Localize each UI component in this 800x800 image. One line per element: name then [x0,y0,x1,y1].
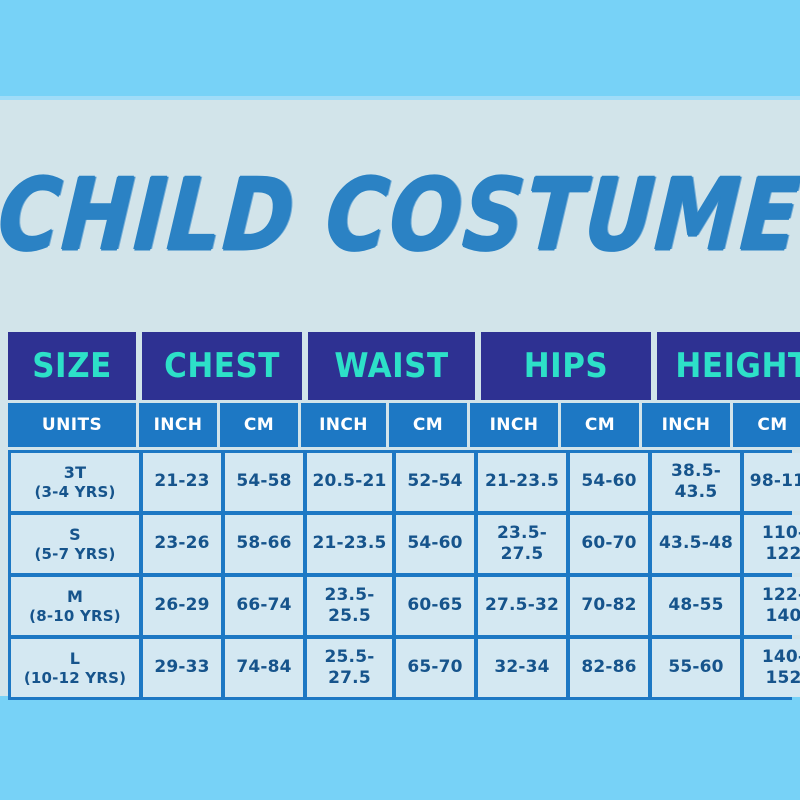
cell-hips-cm: 54-60 [570,453,648,511]
cell-hips-inch: 32-34 [478,639,566,697]
cell-hips-cm: 82-86 [570,639,648,697]
cell-waist-inch: 23.5-25.5 [307,577,392,635]
cell-hips-cm: 60-70 [570,515,648,573]
cell-height-cm: 140-152 [744,639,800,697]
table-row: 3T (3-4 YRS) 21-23 54-58 20.5-21 52-54 2… [11,453,789,511]
cell-hips-inch: 27.5-32 [478,577,566,635]
cell-chest-inch: 29-33 [143,639,221,697]
cell-height-inch: 38.5-43.5 [652,453,740,511]
top-band-accent-line [0,96,800,100]
size-age: (5-7 YRS) [34,545,115,564]
table-row: S (5-7 YRS) 23-26 58-66 21-23.5 54-60 23… [11,515,789,573]
header-label-height: HEIGHT [675,347,800,386]
units-cell-hips-cm: CM [561,403,639,447]
cell-size: M (8-10 YRS) [11,577,139,635]
size-chart-page: CHILD COSTUME SIZE CHEST WAIST HIPS HEIG… [0,0,800,800]
units-cell-chest-cm: CM [220,403,298,447]
units-cell-chest-inch: INCH [139,403,217,447]
cell-size: L (10-12 YRS) [11,639,139,697]
table-row: L (10-12 YRS) 29-33 74-84 25.5-27.5 65-7… [11,639,789,697]
units-group-waist: INCH CM [301,403,467,447]
cell-waist-cm: 60-65 [396,577,474,635]
cell-chest-cm: 74-84 [225,639,303,697]
cell-height-inch: 48-55 [652,577,740,635]
size-chart-table: SIZE CHEST WAIST HIPS HEIGHT UNITS INCH … [8,332,792,700]
header-label-chest: CHEST [164,347,280,386]
cell-size: S (5-7 YRS) [11,515,139,573]
size-name: M [67,587,83,607]
header-group-hips: HIPS [481,332,651,400]
cell-chest-inch: 26-29 [143,577,221,635]
cell-height-cm: 122-140 [744,577,800,635]
units-group-size: UNITS [8,403,136,447]
header-group-chest: CHEST [142,332,302,400]
header-group-height: HEIGHT [657,332,800,400]
cell-height-cm: 98-110 [744,453,800,511]
units-cell-height-cm: CM [733,403,800,447]
units-cell-units: UNITS [8,403,136,447]
units-group-hips: INCH CM [470,403,639,447]
header-label-waist: WAIST [334,347,448,386]
cell-waist-cm: 52-54 [396,453,474,511]
cell-waist-inch: 20.5-21 [307,453,392,511]
table-header-row: SIZE CHEST WAIST HIPS HEIGHT [8,332,792,400]
bottom-color-band [0,696,800,800]
size-name: 3T [64,463,86,483]
cell-hips-inch: 21-23.5 [478,453,566,511]
cell-chest-cm: 54-58 [225,453,303,511]
table-row: M (8-10 YRS) 26-29 66-74 23.5-25.5 60-65… [11,577,789,635]
size-name: S [69,525,81,545]
cell-height-inch: 55-60 [652,639,740,697]
top-color-band [0,0,800,96]
cell-hips-cm: 70-82 [570,577,648,635]
cell-waist-cm: 54-60 [396,515,474,573]
page-title: CHILD COSTUME [0,165,800,264]
size-age: (3-4 YRS) [34,483,115,502]
units-group-height: INCH CM [642,403,800,447]
cell-height-inch: 43.5-48 [652,515,740,573]
cell-chest-inch: 21-23 [143,453,221,511]
units-cell-hips-inch: INCH [470,403,558,447]
size-age: (8-10 YRS) [29,607,121,626]
cell-chest-cm: 66-74 [225,577,303,635]
header-label-size: SIZE [32,347,112,386]
cell-size: 3T (3-4 YRS) [11,453,139,511]
units-cell-waist-inch: INCH [301,403,386,447]
header-group-size: SIZE [8,332,136,400]
title-container: CHILD COSTUME [0,140,800,290]
header-group-waist: WAIST [308,332,475,400]
table-body: 3T (3-4 YRS) 21-23 54-58 20.5-21 52-54 2… [8,450,792,700]
size-age: (10-12 YRS) [24,669,126,688]
cell-height-cm: 110-122 [744,515,800,573]
header-label-hips: HIPS [524,347,609,386]
units-group-chest: INCH CM [139,403,298,447]
table-units-row: UNITS INCH CM INCH CM INCH CM INCH CM [8,403,792,447]
units-cell-height-inch: INCH [642,403,730,447]
size-name: L [70,649,80,669]
cell-chest-cm: 58-66 [225,515,303,573]
cell-hips-inch: 23.5-27.5 [478,515,566,573]
cell-waist-cm: 65-70 [396,639,474,697]
units-cell-waist-cm: CM [389,403,467,447]
cell-chest-inch: 23-26 [143,515,221,573]
cell-waist-inch: 25.5-27.5 [307,639,392,697]
cell-waist-inch: 21-23.5 [307,515,392,573]
